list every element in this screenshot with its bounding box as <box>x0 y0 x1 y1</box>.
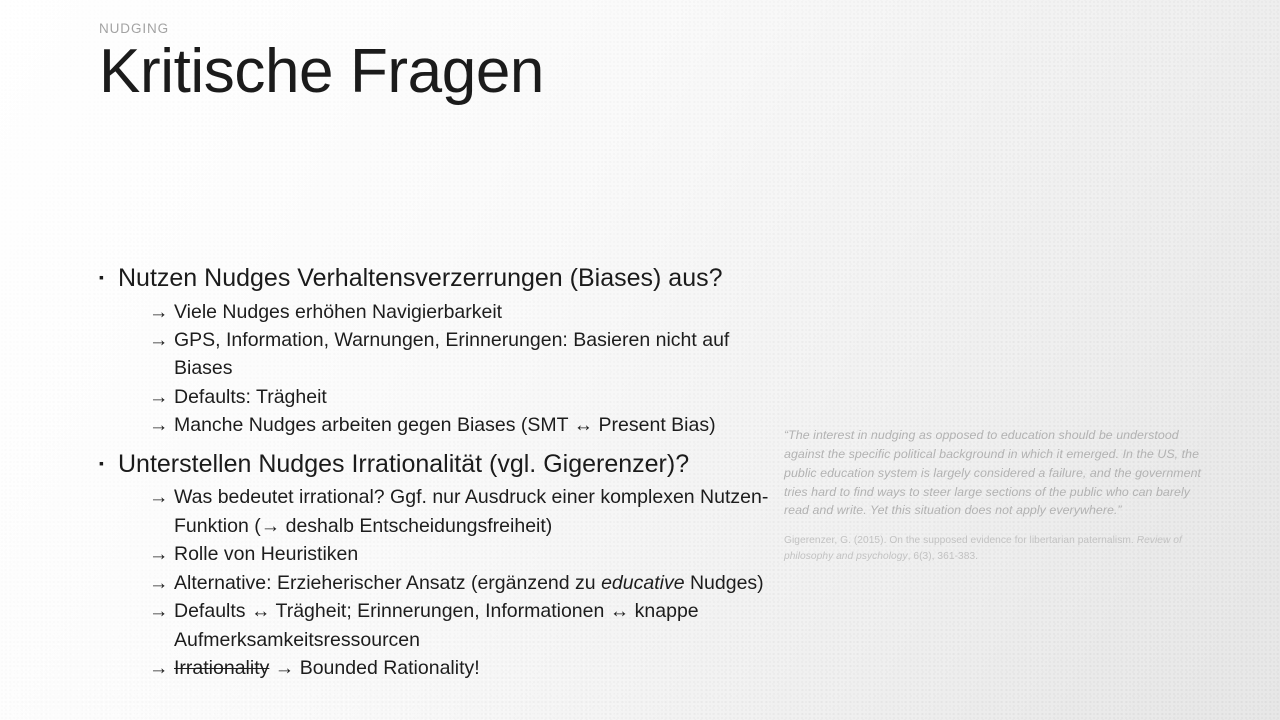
sub-bullet-1-3-text: Defaults: Trägheit <box>174 383 771 411</box>
sub-bullet-2-1: → Was bedeutet irrational? Ggf. nur Ausd… <box>99 483 771 540</box>
citation-part-a: Gigerenzer, G. (2015). On the supposed e… <box>784 535 1137 546</box>
arrow-right-icon: → <box>149 597 174 625</box>
bullet-content: ▪ Nutzen Nudges Verhaltensverzerrungen (… <box>99 262 771 691</box>
sub-bullet-1-1-text: Viele Nudges erhöhen Navigierbarkeit <box>174 298 771 326</box>
bullet-lead-2: ▪ Unterstellen Nudges Irrationalität (vg… <box>99 448 771 482</box>
sub-bullet-2-1-text: Was bedeutet irrational? Ggf. nur Ausdru… <box>174 483 771 540</box>
sub-bullet-2-5-struck-term: Irrationality <box>174 657 269 679</box>
slide-canvas: NUDGING Kritische Fragen ▪ Nutzen Nudges… <box>0 0 1280 720</box>
sub-bullet-1-4: → Manche Nudges arbeiten gegen Biases (S… <box>99 411 771 439</box>
sub-bullet-1-2: → GPS, Information, Warnungen, Erinnerun… <box>99 326 771 383</box>
square-bullet-icon: ▪ <box>99 270 118 284</box>
bullet-lead-1: ▪ Nutzen Nudges Verhaltensverzerrungen (… <box>99 262 771 296</box>
sub-bullet-2-3: → Alternative: Erzieherischer Ansatz (er… <box>99 569 771 597</box>
sub-bullet-2-3-emphasis: educative <box>601 572 684 594</box>
arrow-right-icon: → <box>149 569 174 597</box>
square-bullet-icon: ▪ <box>99 456 118 470</box>
sub-bullet-1-3: → Defaults: Trägheit <box>99 383 771 411</box>
page-title: Kritische Fragen <box>99 39 859 106</box>
bullet-lead-1-text: Nutzen Nudges Verhaltensverzerrungen (Bi… <box>118 262 771 296</box>
arrow-right-icon: → <box>149 540 174 568</box>
sub-bullet-2-3-part-b: Nudges) <box>685 572 764 594</box>
pull-quote-text: “The interest in nudging as opposed to e… <box>784 426 1212 520</box>
arrow-right-icon: → <box>149 298 174 326</box>
citation-part-b: , 6(3), 361-383. <box>908 551 978 562</box>
arrow-right-icon: → <box>149 483 174 511</box>
title-block: NUDGING Kritische Fragen <box>99 22 859 106</box>
arrow-right-icon: → <box>149 326 174 354</box>
sub-bullet-2-5: → Irrationality → Bounded Rationality! <box>99 654 771 682</box>
sub-bullet-2-5-text: Irrationality → Bounded Rationality! <box>174 654 771 682</box>
bullet-lead-2-text: Unterstellen Nudges Irrationalität (vgl.… <box>118 448 771 482</box>
sub-bullet-1-1: → Viele Nudges erhöhen Navigierbarkeit <box>99 298 771 326</box>
sub-bullet-2-5-rest: → Bounded Rationality! <box>269 657 479 679</box>
arrow-right-icon: → <box>149 654 174 682</box>
bullet-group-2: ▪ Unterstellen Nudges Irrationalität (vg… <box>99 448 771 683</box>
sub-bullet-2-3-part-a: Alternative: Erzieherischer Ansatz (ergä… <box>174 572 601 594</box>
sub-bullet-2-2-text: Rolle von Heuristiken <box>174 540 771 568</box>
sub-bullet-1-2-text: GPS, Information, Warnungen, Erinnerunge… <box>174 326 771 383</box>
arrow-right-icon: → <box>149 383 174 411</box>
sub-bullet-2-4: → Defaults ↔ Trägheit; Erinnerungen, Inf… <box>99 597 771 654</box>
slide-eyebrow-label: NUDGING <box>99 22 859 37</box>
sub-bullet-2-4-text: Defaults ↔ Trägheit; Erinnerungen, Infor… <box>174 597 771 654</box>
bullet-group-1: ▪ Nutzen Nudges Verhaltensverzerrungen (… <box>99 262 771 440</box>
sub-bullet-1-4-text: Manche Nudges arbeiten gegen Biases (SMT… <box>174 411 771 439</box>
sub-bullet-2-3-text: Alternative: Erzieherischer Ansatz (ergä… <box>174 569 771 597</box>
arrow-right-icon: → <box>149 411 174 439</box>
quote-panel: “The interest in nudging as opposed to e… <box>784 426 1212 564</box>
sub-bullet-2-2: → Rolle von Heuristiken <box>99 540 771 568</box>
citation-text: Gigerenzer, G. (2015). On the supposed e… <box>784 533 1212 564</box>
